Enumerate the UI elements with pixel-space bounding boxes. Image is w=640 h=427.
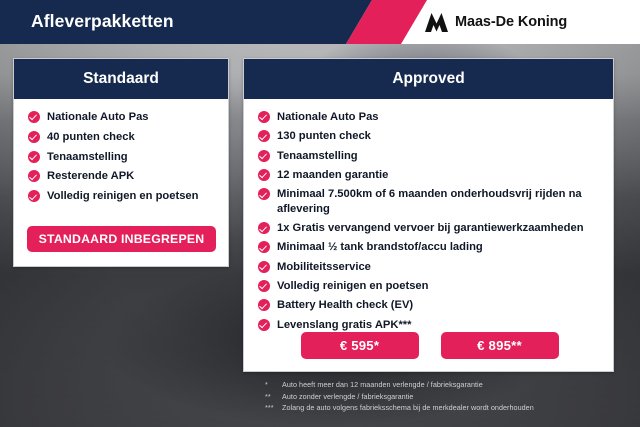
- footnote-row: ** Auto zonder verlengde / fabrieksgaran…: [265, 391, 615, 403]
- feature-label: Mobiliteitsservice: [277, 260, 371, 275]
- list-item: Nationale Auto Pas: [28, 110, 218, 125]
- footnote-row: * Auto heeft meer dan 12 maanden verleng…: [265, 379, 615, 391]
- check-circle-icon: [258, 280, 270, 292]
- list-item: 12 maanden garantie: [258, 168, 603, 183]
- footnote-marker: **: [265, 391, 282, 403]
- page-header: Afleverpakketten Maas-De Koning: [0, 0, 640, 44]
- feature-list-approved: Nationale Auto Pas 130 punten check Tena…: [244, 110, 613, 332]
- footnote-text: Auto heeft meer dan 12 maanden verlengde…: [282, 379, 615, 391]
- list-item: Battery Health check (EV): [258, 298, 603, 313]
- list-item: 40 punten check: [28, 130, 218, 145]
- brand-name: Maas-De Koning: [455, 14, 567, 30]
- page-root: Afleverpakketten Maas-De Koning Standaar…: [0, 0, 640, 427]
- list-item: Volledig reinigen en poetsen: [28, 189, 218, 204]
- check-circle-icon: [258, 130, 270, 142]
- check-circle-icon: [258, 299, 270, 311]
- page-title: Afleverpakketten: [31, 11, 174, 32]
- list-item: Minimaal 7.500km of 6 maanden onderhouds…: [258, 187, 603, 217]
- list-item: Tenaamstelling: [28, 150, 218, 165]
- list-item: 1x Gratis vervangend vervoer bij garanti…: [258, 221, 603, 236]
- feature-label: Tenaamstelling: [47, 150, 128, 165]
- price-button-895[interactable]: € 895**: [441, 332, 559, 359]
- card-title-standaard: Standaard: [14, 59, 228, 99]
- check-circle-icon: [258, 241, 270, 253]
- package-card-standaard: Standaard Nationale Auto Pas 40 punten c…: [13, 58, 229, 267]
- feature-label: 130 punten check: [277, 129, 371, 144]
- check-circle-icon: [258, 111, 270, 123]
- feature-label: Battery Health check (EV): [277, 298, 413, 313]
- check-circle-icon: [28, 170, 40, 182]
- check-circle-icon: [258, 319, 270, 331]
- feature-label: Nationale Auto Pas: [277, 110, 379, 125]
- standaard-inbegrepen-button[interactable]: STANDAARD INBEGREPEN: [27, 226, 216, 252]
- card-body-standaard: Nationale Auto Pas 40 punten check Tenaa…: [14, 99, 228, 204]
- package-card-approved: Approved Nationale Auto Pas 130 punten c…: [243, 58, 614, 372]
- feature-list-standaard: Nationale Auto Pas 40 punten check Tenaa…: [14, 110, 228, 204]
- footnote-marker: ***: [265, 402, 282, 414]
- price-button-595[interactable]: € 595*: [301, 332, 419, 359]
- check-circle-icon: [28, 131, 40, 143]
- feature-label: Minimaal 7.500km of 6 maanden onderhouds…: [277, 187, 603, 217]
- check-circle-icon: [28, 190, 40, 202]
- brand-logo: Maas-De Koning: [425, 10, 567, 34]
- footnote-marker: *: [265, 379, 282, 391]
- list-item: Minimaal ½ tank brandstof/accu lading: [258, 240, 603, 255]
- list-item: Tenaamstelling: [258, 149, 603, 164]
- check-circle-icon: [258, 261, 270, 273]
- card-title-approved: Approved: [244, 59, 613, 99]
- feature-label: 12 maanden garantie: [277, 168, 388, 183]
- check-circle-icon: [28, 151, 40, 163]
- feature-label: Resterende APK: [47, 169, 134, 184]
- feature-label: Volledig reinigen en poetsen: [47, 189, 198, 204]
- check-circle-icon: [28, 111, 40, 123]
- list-item: Nationale Auto Pas: [258, 110, 603, 125]
- list-item: 130 punten check: [258, 129, 603, 144]
- feature-label: Tenaamstelling: [277, 149, 358, 164]
- feature-label: 1x Gratis vervangend vervoer bij garanti…: [277, 221, 584, 236]
- list-item: Resterende APK: [28, 169, 218, 184]
- feature-label: Minimaal ½ tank brandstof/accu lading: [277, 240, 483, 255]
- feature-label: Nationale Auto Pas: [47, 110, 149, 125]
- check-circle-icon: [258, 188, 270, 200]
- card-body-approved: Nationale Auto Pas 130 punten check Tena…: [244, 99, 613, 332]
- feature-label: Levenslang gratis APK***: [277, 318, 412, 333]
- list-item: Volledig reinigen en poetsen: [258, 279, 603, 294]
- list-item: Mobiliteitsservice: [258, 260, 603, 275]
- footnote-text: Auto zonder verlengde / fabrieksgarantie: [282, 391, 615, 403]
- price-button-row: € 595* € 895**: [244, 332, 615, 359]
- check-circle-icon: [258, 169, 270, 181]
- feature-label: 40 punten check: [47, 130, 135, 145]
- maas-de-koning-m-logo-icon: [425, 13, 448, 32]
- footnotes: * Auto heeft meer dan 12 maanden verleng…: [265, 379, 615, 414]
- feature-label: Volledig reinigen en poetsen: [277, 279, 428, 294]
- footnote-row: *** Zolang de auto volgens fabrieksschem…: [265, 402, 615, 414]
- check-circle-icon: [258, 222, 270, 234]
- list-item: Levenslang gratis APK***: [258, 318, 603, 333]
- footnote-text: Zolang de auto volgens fabrieksschema bi…: [282, 402, 615, 414]
- check-circle-icon: [258, 150, 270, 162]
